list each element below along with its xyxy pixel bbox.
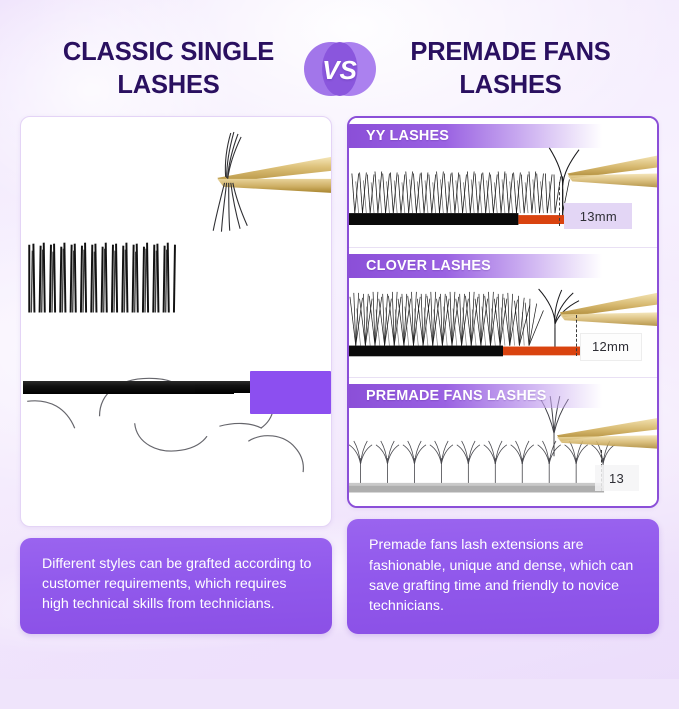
classic-single-lashes-panel <box>20 116 332 527</box>
section-clover-lashes: CLOVER LASHES <box>349 248 657 378</box>
left-heading: CLASSIC SINGLE LASHES <box>39 36 303 101</box>
section-label-yy-lashes: YY LASHES <box>349 124 602 148</box>
premade-measurement-chip: 13 <box>595 465 639 491</box>
header: CLASSIC SINGLE LASHES VS PREMADE FANS LA… <box>0 30 679 108</box>
section-label-premade-fans-lashes: PREMADE FANS LASHES <box>349 384 602 408</box>
right-heading: PREMADE FANS LASHES <box>377 36 641 101</box>
vs-label: VS <box>322 55 357 86</box>
classic-lash-artwork <box>21 117 331 526</box>
section-premade-fans-lashes: PREMADE FANS LASHES <box>349 378 657 507</box>
yy-measurement-chip: 13mm <box>564 203 632 229</box>
right-column: YY LASHES <box>347 116 659 634</box>
right-caption: Premade fans lash extensions are fashion… <box>347 519 659 634</box>
yy-measurement-guide <box>559 182 560 226</box>
left-caption: Different styles can be grafted accordin… <box>20 538 332 634</box>
comparison-columns: Different styles can be grafted accordin… <box>20 116 659 634</box>
premade-fans-lashes-panel: YY LASHES <box>347 116 659 508</box>
lash-strip-purple-tab <box>250 371 331 414</box>
clover-measurement-guide <box>576 315 577 356</box>
vs-badge: VS <box>304 38 376 100</box>
classic-panel-illustration <box>21 117 331 526</box>
section-label-clover-lashes: CLOVER LASHES <box>349 254 602 278</box>
left-column: Different styles can be grafted accordin… <box>20 116 332 634</box>
clover-measurement-chip: 12mm <box>580 333 642 361</box>
comparison-infographic: CLASSIC SINGLE LASHES VS PREMADE FANS LA… <box>0 0 679 679</box>
section-yy-lashes: YY LASHES <box>349 118 657 248</box>
